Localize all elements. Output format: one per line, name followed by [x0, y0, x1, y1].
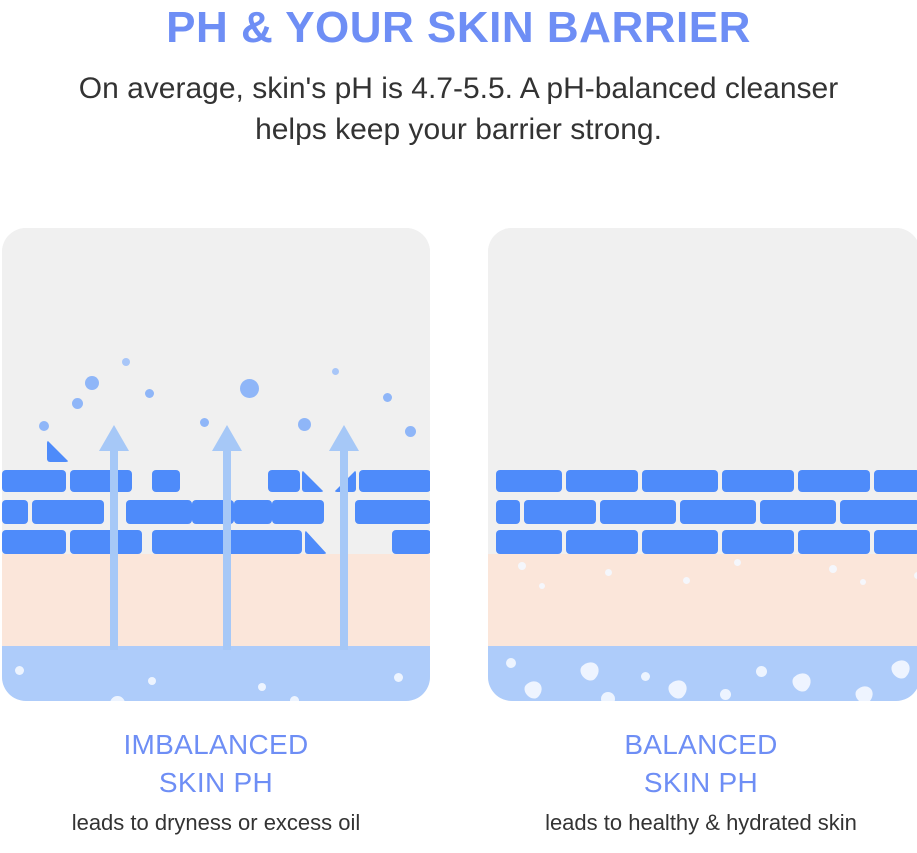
hydration-dot — [258, 683, 266, 691]
hydration-sparkle — [539, 583, 545, 589]
moisture-loss-arrow — [212, 425, 242, 650]
brick — [496, 470, 562, 492]
moisture-dot — [405, 426, 416, 437]
hydration-dot — [756, 666, 767, 677]
caption-title-line1: BALANCED — [624, 729, 777, 760]
brick — [355, 500, 430, 524]
brick — [272, 500, 324, 524]
brick — [392, 530, 430, 554]
brick — [152, 470, 180, 492]
hydration-dot — [720, 689, 731, 700]
hydration-sparkle — [860, 579, 866, 585]
hydration-dot — [148, 677, 156, 685]
arrow-shaft — [110, 449, 118, 650]
arrow-head-icon — [329, 425, 359, 451]
moisture-dot — [72, 398, 83, 409]
layer-hydration-right — [488, 646, 917, 701]
hydration-sparkle — [518, 562, 526, 570]
layer-hydration-left — [2, 646, 430, 701]
moisture-loss-arrow — [329, 425, 359, 650]
hydration-dot — [290, 696, 299, 701]
hydration-dot — [394, 673, 403, 682]
moisture-dot — [298, 418, 311, 431]
brick — [359, 470, 430, 492]
brick — [600, 500, 676, 524]
comparison-panels — [0, 228, 917, 701]
hydration-dot — [15, 666, 24, 675]
hydration-sparkle — [829, 565, 837, 573]
caption-title-line1: IMBALANCED — [123, 729, 308, 760]
brick — [496, 500, 520, 524]
brick — [840, 500, 917, 524]
caption-title-balanced: BALANCED SKIN PH — [485, 726, 917, 802]
caption-balanced: BALANCED SKIN PH leads to healthy & hydr… — [485, 726, 917, 837]
brick — [524, 500, 596, 524]
brick — [760, 500, 836, 524]
brick-shard — [302, 470, 324, 492]
brick — [680, 500, 756, 524]
hydration-dot — [641, 672, 650, 681]
hydration-sparkle — [734, 559, 741, 566]
brick-shard — [305, 530, 327, 554]
moisture-dot — [85, 376, 99, 390]
arrow-shaft — [223, 449, 231, 650]
moisture-loss-arrow — [99, 425, 129, 650]
brick — [722, 470, 794, 492]
moisture-dot — [122, 358, 130, 366]
panel-imbalanced-skin — [2, 228, 430, 701]
brick — [496, 530, 562, 554]
moisture-dot — [383, 393, 392, 402]
caption-subtitle-imbalanced: leads to dryness or excess oil — [0, 809, 432, 837]
brick — [722, 530, 794, 554]
brick — [2, 500, 28, 524]
brick — [32, 500, 104, 524]
brick — [642, 470, 718, 492]
brick — [126, 500, 192, 524]
moisture-dot — [39, 421, 49, 431]
brick — [798, 530, 870, 554]
caption-title-line2: SKIN PH — [644, 767, 758, 798]
brick — [566, 470, 638, 492]
moisture-dot — [332, 368, 339, 375]
moisture-dot — [145, 389, 154, 398]
brick — [268, 470, 300, 492]
hydration-sparkle — [605, 569, 612, 576]
page-title: PH & YOUR SKIN BARRIER — [0, 2, 917, 54]
layer-epidermis-right — [488, 228, 917, 468]
brick — [566, 530, 638, 554]
caption-imbalanced: IMBALANCED SKIN PH leads to dryness or e… — [0, 726, 432, 837]
caption-subtitle-balanced: leads to healthy & hydrated skin — [485, 809, 917, 837]
hydration-dot — [601, 692, 615, 701]
caption-title-line2: SKIN PH — [159, 767, 273, 798]
header: PH & YOUR SKIN BARRIER On average, skin'… — [0, 0, 917, 150]
page-subtitle: On average, skin's pH is 4.7-5.5. A pH-b… — [64, 68, 854, 150]
arrow-shaft — [340, 449, 348, 650]
moisture-dot — [200, 418, 209, 427]
brick — [874, 470, 917, 492]
brick — [798, 470, 870, 492]
brick — [2, 470, 66, 492]
hydration-sparkle — [683, 577, 690, 584]
arrow-head-icon — [212, 425, 242, 451]
panel-balanced-skin — [488, 228, 917, 701]
hydration-dot — [506, 658, 516, 668]
caption-title-imbalanced: IMBALANCED SKIN PH — [0, 726, 432, 802]
brick — [2, 530, 66, 554]
moisture-dot — [240, 379, 259, 398]
brick — [642, 530, 718, 554]
layer-dermis-right — [488, 554, 917, 646]
brick — [874, 530, 917, 554]
arrow-head-icon — [99, 425, 129, 451]
panel-captions: IMBALANCED SKIN PH leads to dryness or e… — [0, 726, 917, 853]
